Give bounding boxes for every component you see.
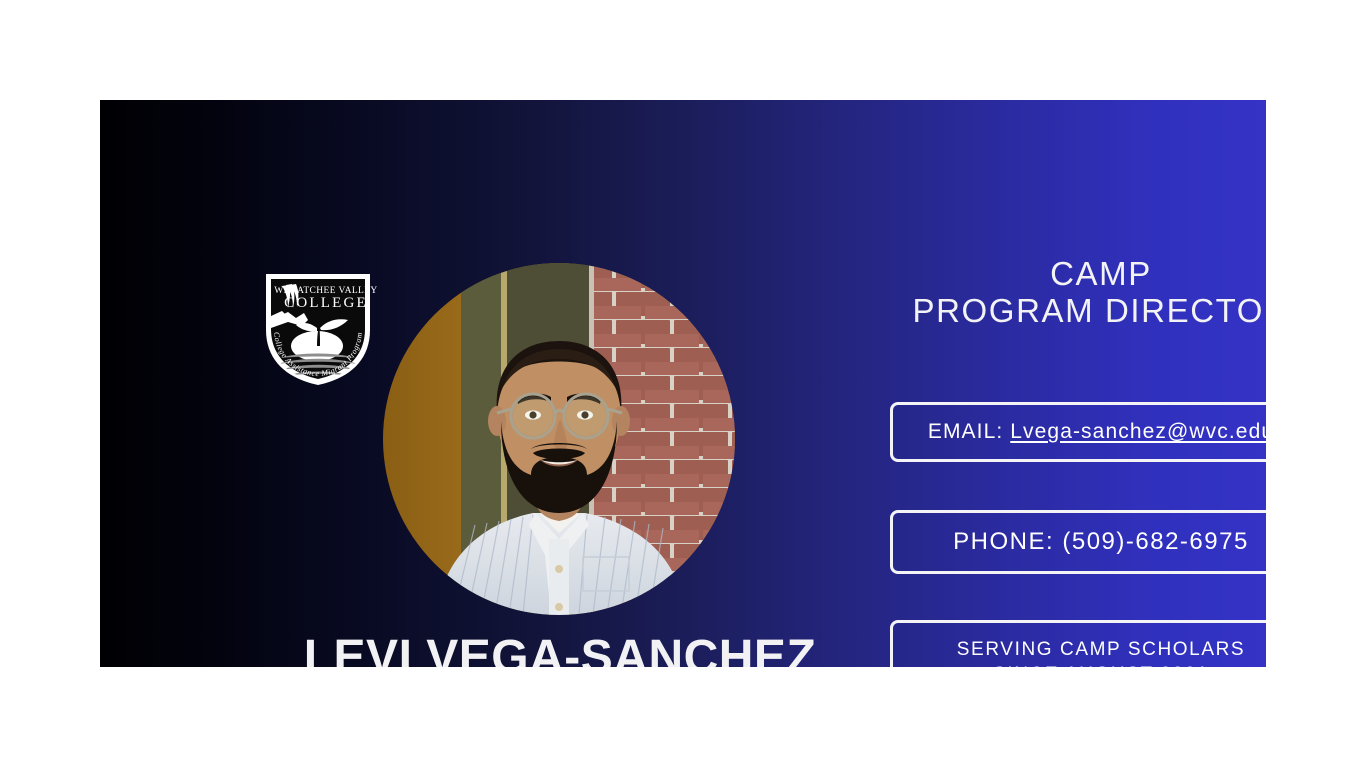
- tagline-line2: SINCE AUGUST 2021: [957, 663, 1245, 667]
- email-label: EMAIL:: [928, 420, 1010, 443]
- role-title-block: CAMP PROGRAM DIRECTOR: [890, 255, 1266, 330]
- role-title-line2: PROGRAM DIRECTOR: [890, 292, 1266, 329]
- portrait-photo: [383, 263, 735, 615]
- tagline-line1: SERVING CAMP SCHOLARS: [957, 638, 1245, 663]
- email-contact-box[interactable]: EMAIL: Lvega-sanchez@wvc.edu: [890, 402, 1266, 462]
- tagline-box: SERVING CAMP SCHOLARS SINCE AUGUST 2021: [890, 620, 1266, 667]
- role-title-line1: CAMP: [890, 255, 1266, 292]
- email-address-link[interactable]: Lvega-sanchez@wvc.edu: [1010, 420, 1266, 443]
- wvc-camp-logo: WENATCHEE VALLEY COLLEGE: [258, 268, 378, 386]
- email-line: EMAIL: Lvega-sanchez@wvc.edu: [928, 420, 1266, 444]
- phone-text: PHONE: (509)-682-6975: [953, 528, 1249, 556]
- svg-text:COLLEGE: COLLEGE: [284, 295, 368, 311]
- phone-contact-box[interactable]: PHONE: (509)-682-6975: [890, 510, 1266, 574]
- person-name: LEVI VEGA-SANCHEZ: [220, 633, 900, 667]
- page-title: CAMP PROGRAM DIRECTOR: [890, 255, 1266, 330]
- tagline-text: SERVING CAMP SCHOLARS SINCE AUGUST 2021: [957, 638, 1245, 667]
- slide-canvas: WENATCHEE VALLEY COLLEGE: [0, 0, 1366, 768]
- contact-card-banner: WENATCHEE VALLEY COLLEGE: [100, 100, 1266, 667]
